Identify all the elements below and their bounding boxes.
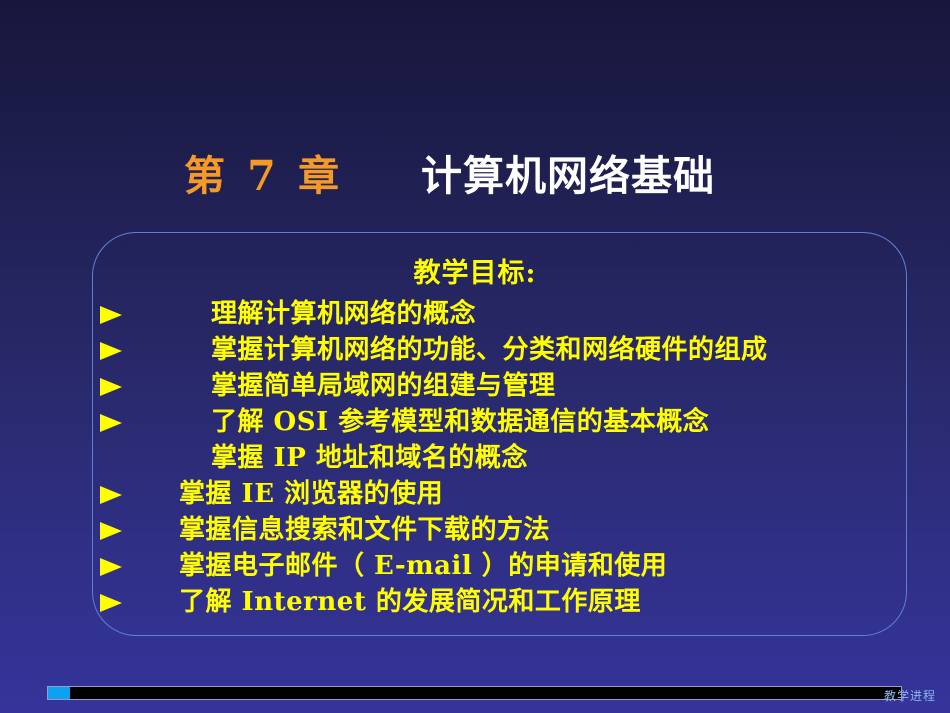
triangle-bullet-icon <box>100 594 122 612</box>
list-item-label: 理解计算机网络的概念 <box>211 296 476 332</box>
triangle-bullet-icon <box>100 522 122 540</box>
progress-bar-track[interactable] <box>47 686 902 700</box>
list-item-label: 掌握信息搜索和文件下载的方法 <box>179 512 550 548</box>
teaching-goals-heading: 教学目标: <box>0 251 950 290</box>
progress-bar-fill <box>48 687 70 699</box>
triangle-bullet-icon <box>100 342 122 360</box>
list-item-label: 掌握 IE 浏览器的使用 <box>179 476 443 512</box>
triangle-bullet-icon <box>100 558 122 576</box>
list-item-label: 了解 Internet 的发展简况和工作原理 <box>179 584 641 620</box>
list-item: 掌握电子邮件（ E-mail ）的申请和使用 <box>0 548 950 584</box>
list-item-label: 掌握简单局域网的组建与管理 <box>211 368 556 404</box>
triangle-bullet-icon <box>100 414 122 432</box>
list-item-label: 掌握计算机网络的功能、分类和网络硬件的组成 <box>211 332 768 368</box>
presentation-slide: 第 7 章 计算机网络基础 教学目标: 理解计算机网络的概念掌握计算机网络的功能… <box>0 0 950 713</box>
page-title: 计算机网络基础 <box>421 148 715 204</box>
list-item: 了解 OSI 参考模型和数据通信的基本概念 <box>0 404 950 440</box>
triangle-bullet-icon <box>100 306 122 324</box>
teaching-progress-label: 教学进程 <box>884 687 936 704</box>
slide-title: 第 7 章 计算机网络基础 <box>0 148 950 204</box>
list-item: 掌握计算机网络的功能、分类和网络硬件的组成 <box>0 332 950 368</box>
triangle-bullet-icon <box>100 378 122 396</box>
list-item: 掌握简单局域网的组建与管理 <box>0 368 950 404</box>
list-item: 掌握 IP 地址和域名的概念 <box>0 440 950 476</box>
teaching-goals-list: 理解计算机网络的概念掌握计算机网络的功能、分类和网络硬件的组成掌握简单局域网的组… <box>0 296 950 620</box>
list-item: 掌握 IE 浏览器的使用 <box>0 476 950 512</box>
triangle-bullet-icon <box>100 486 122 504</box>
list-item: 了解 Internet 的发展简况和工作原理 <box>0 584 950 620</box>
list-item-label: 了解 OSI 参考模型和数据通信的基本概念 <box>211 404 709 440</box>
chapter-number-label: 第 7 章 <box>184 148 343 204</box>
list-item: 理解计算机网络的概念 <box>0 296 950 332</box>
list-item-label: 掌握 IP 地址和域名的概念 <box>211 440 528 476</box>
list-item: 掌握信息搜索和文件下载的方法 <box>0 512 950 548</box>
list-item-label: 掌握电子邮件（ E-mail ）的申请和使用 <box>179 548 667 584</box>
